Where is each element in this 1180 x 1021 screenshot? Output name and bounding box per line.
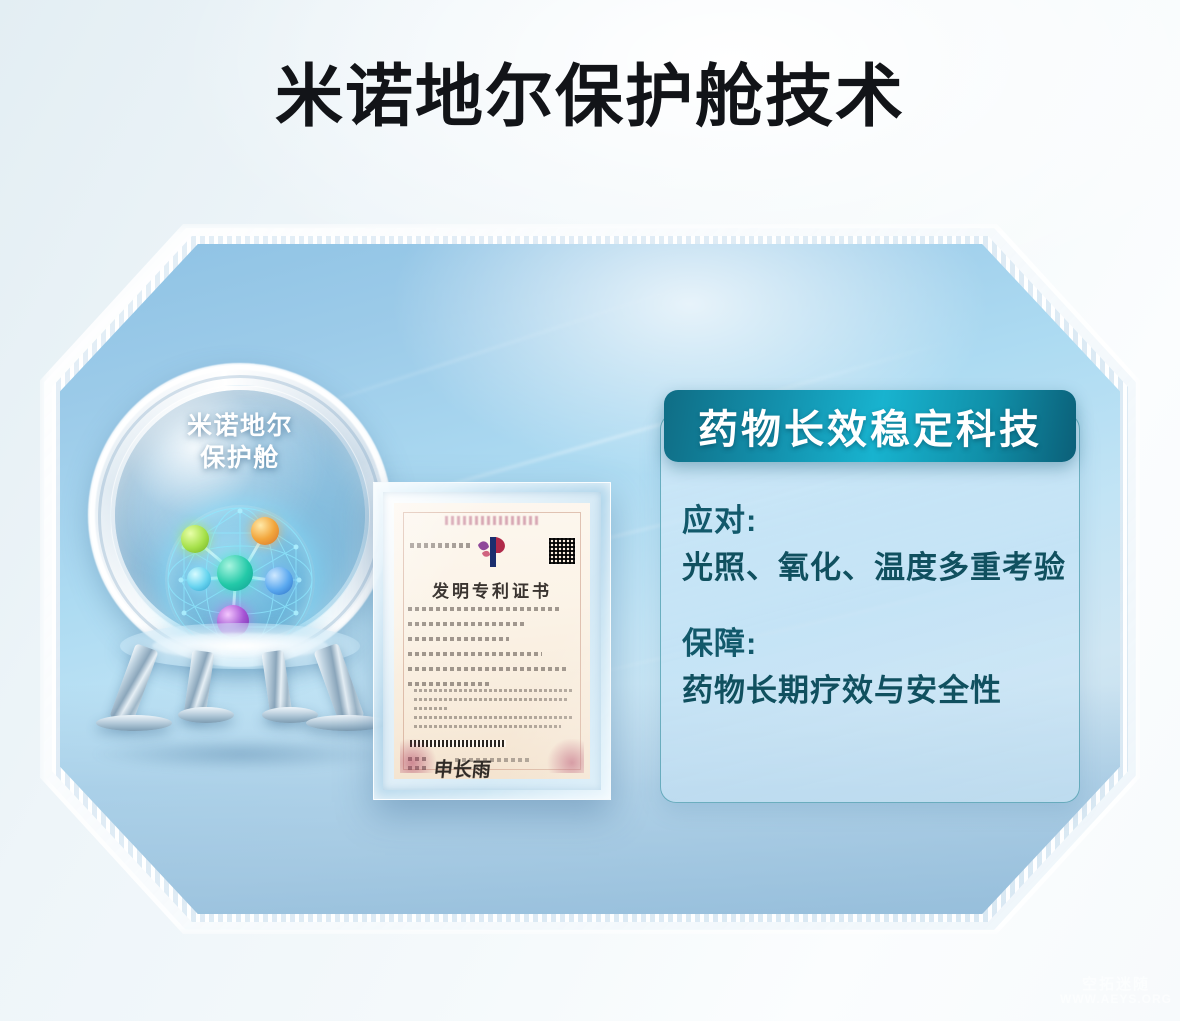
molecule-orange-atom (251, 517, 279, 545)
info-group-value: 光照、氧化、温度多重考验 (682, 546, 1072, 589)
certificate-field-line (408, 667, 568, 671)
capsule-label-line1: 米诺地尔 (110, 410, 370, 442)
certificate-field-line (408, 652, 542, 656)
cnipa-emblem-icon (472, 535, 512, 569)
capsule-pedestal-glow (152, 633, 328, 659)
capsule-foot (96, 715, 172, 731)
info-panel-badge-title: 药物长效稳定科技 (698, 397, 1042, 455)
capsule-label-line2: 保护舱 (110, 442, 370, 474)
site-watermark: 空拓迷随 WWW.AEYS.ORG (1060, 976, 1172, 1007)
info-group-guarantee: 保障: 药物长期疗效与安全性 (682, 623, 1072, 712)
molecule-center-atom (217, 555, 253, 591)
certificate-qr-code (548, 537, 576, 565)
device-ground-shadow (90, 737, 390, 771)
certificate-title: 发明专利证书 (394, 577, 590, 602)
certificate-body-line (414, 707, 449, 710)
info-group-value: 药物长期疗效与安全性 (682, 669, 1072, 712)
certificate-ornament (445, 516, 539, 525)
molecule-cyan-atom (187, 567, 211, 591)
certificate-body-line (414, 725, 561, 728)
poster-root: 米诺地尔保护舱技术 (0, 0, 1180, 1021)
certificate-body-line (414, 689, 574, 692)
molecule-blue-atom (265, 567, 293, 595)
info-group-response: 应对: 光照、氧化、温度多重考验 (682, 500, 1072, 589)
capsule-label: 米诺地尔 保护舱 (110, 410, 370, 474)
capsule-leg (313, 643, 364, 725)
capsule-leg (109, 643, 158, 725)
certificate-footer (394, 749, 590, 767)
watermark-en-text: WWW.AEYS.ORG (1060, 993, 1172, 1007)
certificate-body-line (414, 716, 572, 719)
certificate-number-text (410, 543, 472, 548)
certificate-field-line (408, 637, 509, 641)
watermark-cn-text: 空拓迷随 (1060, 976, 1172, 993)
certificate-field-lines (408, 607, 576, 697)
certificate-body-line (414, 698, 569, 701)
info-group-label: 应对: (682, 500, 1072, 542)
protection-capsule-device: 米诺地尔 保护舱 (70, 355, 410, 795)
patent-certificate-frame: 发明专利证书 申长雨 (373, 482, 611, 800)
molecule-green-atom (181, 525, 209, 553)
info-panel-badge: 药物长效稳定科技 (664, 390, 1076, 462)
info-group-label: 保障: (682, 623, 1072, 665)
page-title: 米诺地尔保护舱技术 (275, 62, 905, 133)
capsule-foot (178, 707, 234, 723)
certificate-paper: 发明专利证书 申长雨 (394, 503, 590, 779)
info-panel-body: 应对: 光照、氧化、温度多重考验 保障: 药物长期疗效与安全性 (682, 500, 1072, 746)
certificate-field-line (408, 622, 526, 626)
certificate-body-paragraph (414, 689, 574, 734)
certificate-field-line (408, 682, 492, 686)
certificate-field-line (408, 607, 559, 611)
page-title-wrapper: 米诺地尔保护舱技术 (0, 62, 1180, 133)
